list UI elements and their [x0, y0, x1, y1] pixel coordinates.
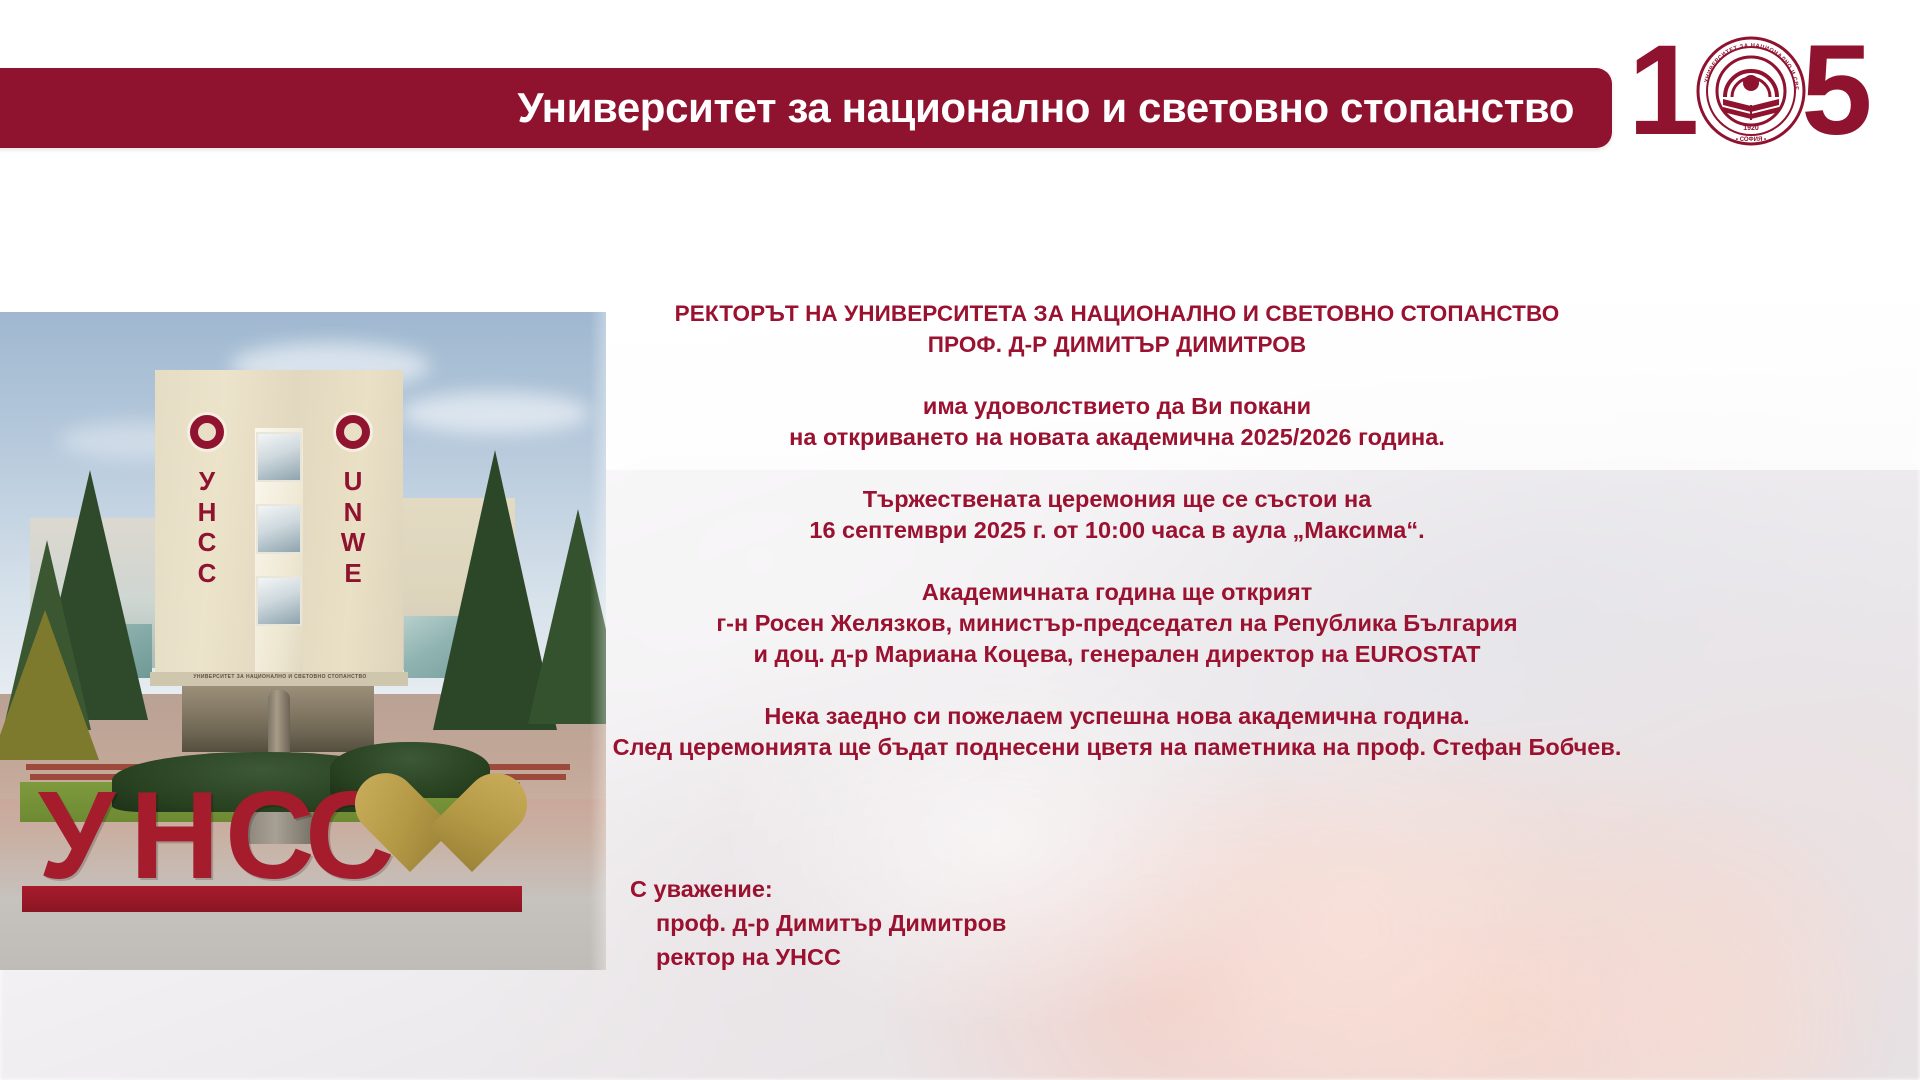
invitation-invite: има удоволствието да Ви покани на открив…	[612, 391, 1622, 453]
svg-text:• СОФИЯ •: • СОФИЯ •	[1736, 137, 1766, 143]
photo-sculpture-letter: Н	[130, 774, 220, 898]
svg-text:1920: 1920	[1743, 125, 1759, 132]
openers-line-2: г-н Росен Желязков, министър-председател…	[612, 608, 1622, 639]
unwe-campus-photo: УНСС UNWE УНИВЕРСИТЕТ ЗА НАЦИОНАЛНО И СВ…	[0, 312, 606, 970]
photo-cloud	[400, 392, 590, 434]
openers-line-3: и доц. д-р Мариана Коцева, генерален дир…	[612, 639, 1622, 670]
photo-building-label-latin: UNWE	[336, 466, 370, 589]
photo-window	[256, 576, 302, 626]
signature-salutation: С уважение:	[630, 872, 1006, 906]
invite-line-2: на откриването на новата академична 2025…	[612, 422, 1622, 453]
photo-building-label-cyrillic: УНСС	[190, 466, 224, 589]
spacer	[612, 360, 1622, 391]
invitation-text-block: РЕКТОРЪТ НА УНИВЕРСИТЕТА ЗА НАЦИОНАЛНО И…	[612, 298, 1622, 763]
heading-line-2: ПРОФ. Д-Р ДИМИТЪР ДИМИТРОВ	[612, 329, 1622, 360]
photo-seal-right	[333, 412, 373, 452]
photo-sculpture-letter: У	[38, 774, 115, 898]
photo-facade-inscription: УНИВЕРСИТЕТ ЗА НАЦИОНАЛНО И СВЕТОВНО СТО…	[190, 674, 370, 680]
heading-line-1: РЕКТОРЪТ НА УНИВЕРСИТЕТА ЗА НАЦИОНАЛНО И…	[612, 298, 1622, 329]
spacer	[612, 670, 1622, 701]
photo-sculpture-letter: С	[225, 774, 315, 898]
closing-line-2: След церемонията ще бъдат поднесени цвет…	[612, 732, 1622, 763]
invite-line-1: има удоволствието да Ви покани	[612, 391, 1622, 422]
photo-window	[256, 432, 302, 482]
ceremony-line-2: 16 септември 2025 г. от 10:00 часа в аул…	[612, 515, 1622, 546]
photo-heart-sculpture	[352, 776, 472, 888]
105-anniversary-logo: 1 1920 • СОФИЯ • УНИВЕРСИТЕТ ЗА НАЦИОНАЛ…	[1628, 26, 1914, 156]
logo-digit-one: 1	[1628, 37, 1699, 145]
photo-window	[256, 504, 302, 554]
signature-block: С уважение: проф. д-р Димитър Димитров р…	[630, 872, 1006, 974]
photo-right-fade	[590, 312, 606, 970]
invitation-openers: Академичната година ще открият г-н Росен…	[612, 577, 1622, 670]
signature-title: ректор на УНСС	[630, 940, 1006, 974]
header-banner: Университет за национално и световно сто…	[0, 68, 1612, 148]
unwe-emblem-icon: 1920 • СОФИЯ • УНИВЕРСИТЕТ ЗА НАЦИОНАЛНО…	[1695, 35, 1807, 147]
closing-line-1: Нека заедно си пожелаем успешна нова ака…	[612, 701, 1622, 732]
photo-autumn-tree	[0, 610, 100, 760]
photo-main-building: УНСС UNWE	[155, 370, 403, 680]
photo-seal-left	[187, 412, 227, 452]
spacer	[612, 546, 1622, 577]
invitation-ceremony: Тържествената церемония ще се състои на …	[612, 484, 1622, 546]
spacer	[612, 453, 1622, 484]
logo-digit-five: 5	[1801, 37, 1872, 145]
banner-title: Университет за национално и световно сто…	[517, 87, 1574, 129]
invitation-slide: Университет за национално и световно сто…	[0, 0, 1920, 1080]
signature-name: проф. д-р Димитър Димитров	[630, 906, 1006, 940]
invitation-heading: РЕКТОРЪТ НА УНИВЕРСИТЕТА ЗА НАЦИОНАЛНО И…	[612, 298, 1622, 360]
openers-line-1: Академичната година ще открият	[612, 577, 1622, 608]
invitation-closing: Нека заедно си пожелаем успешна нова ака…	[612, 701, 1622, 763]
ceremony-line-1: Тържествената церемония ще се състои на	[612, 484, 1622, 515]
